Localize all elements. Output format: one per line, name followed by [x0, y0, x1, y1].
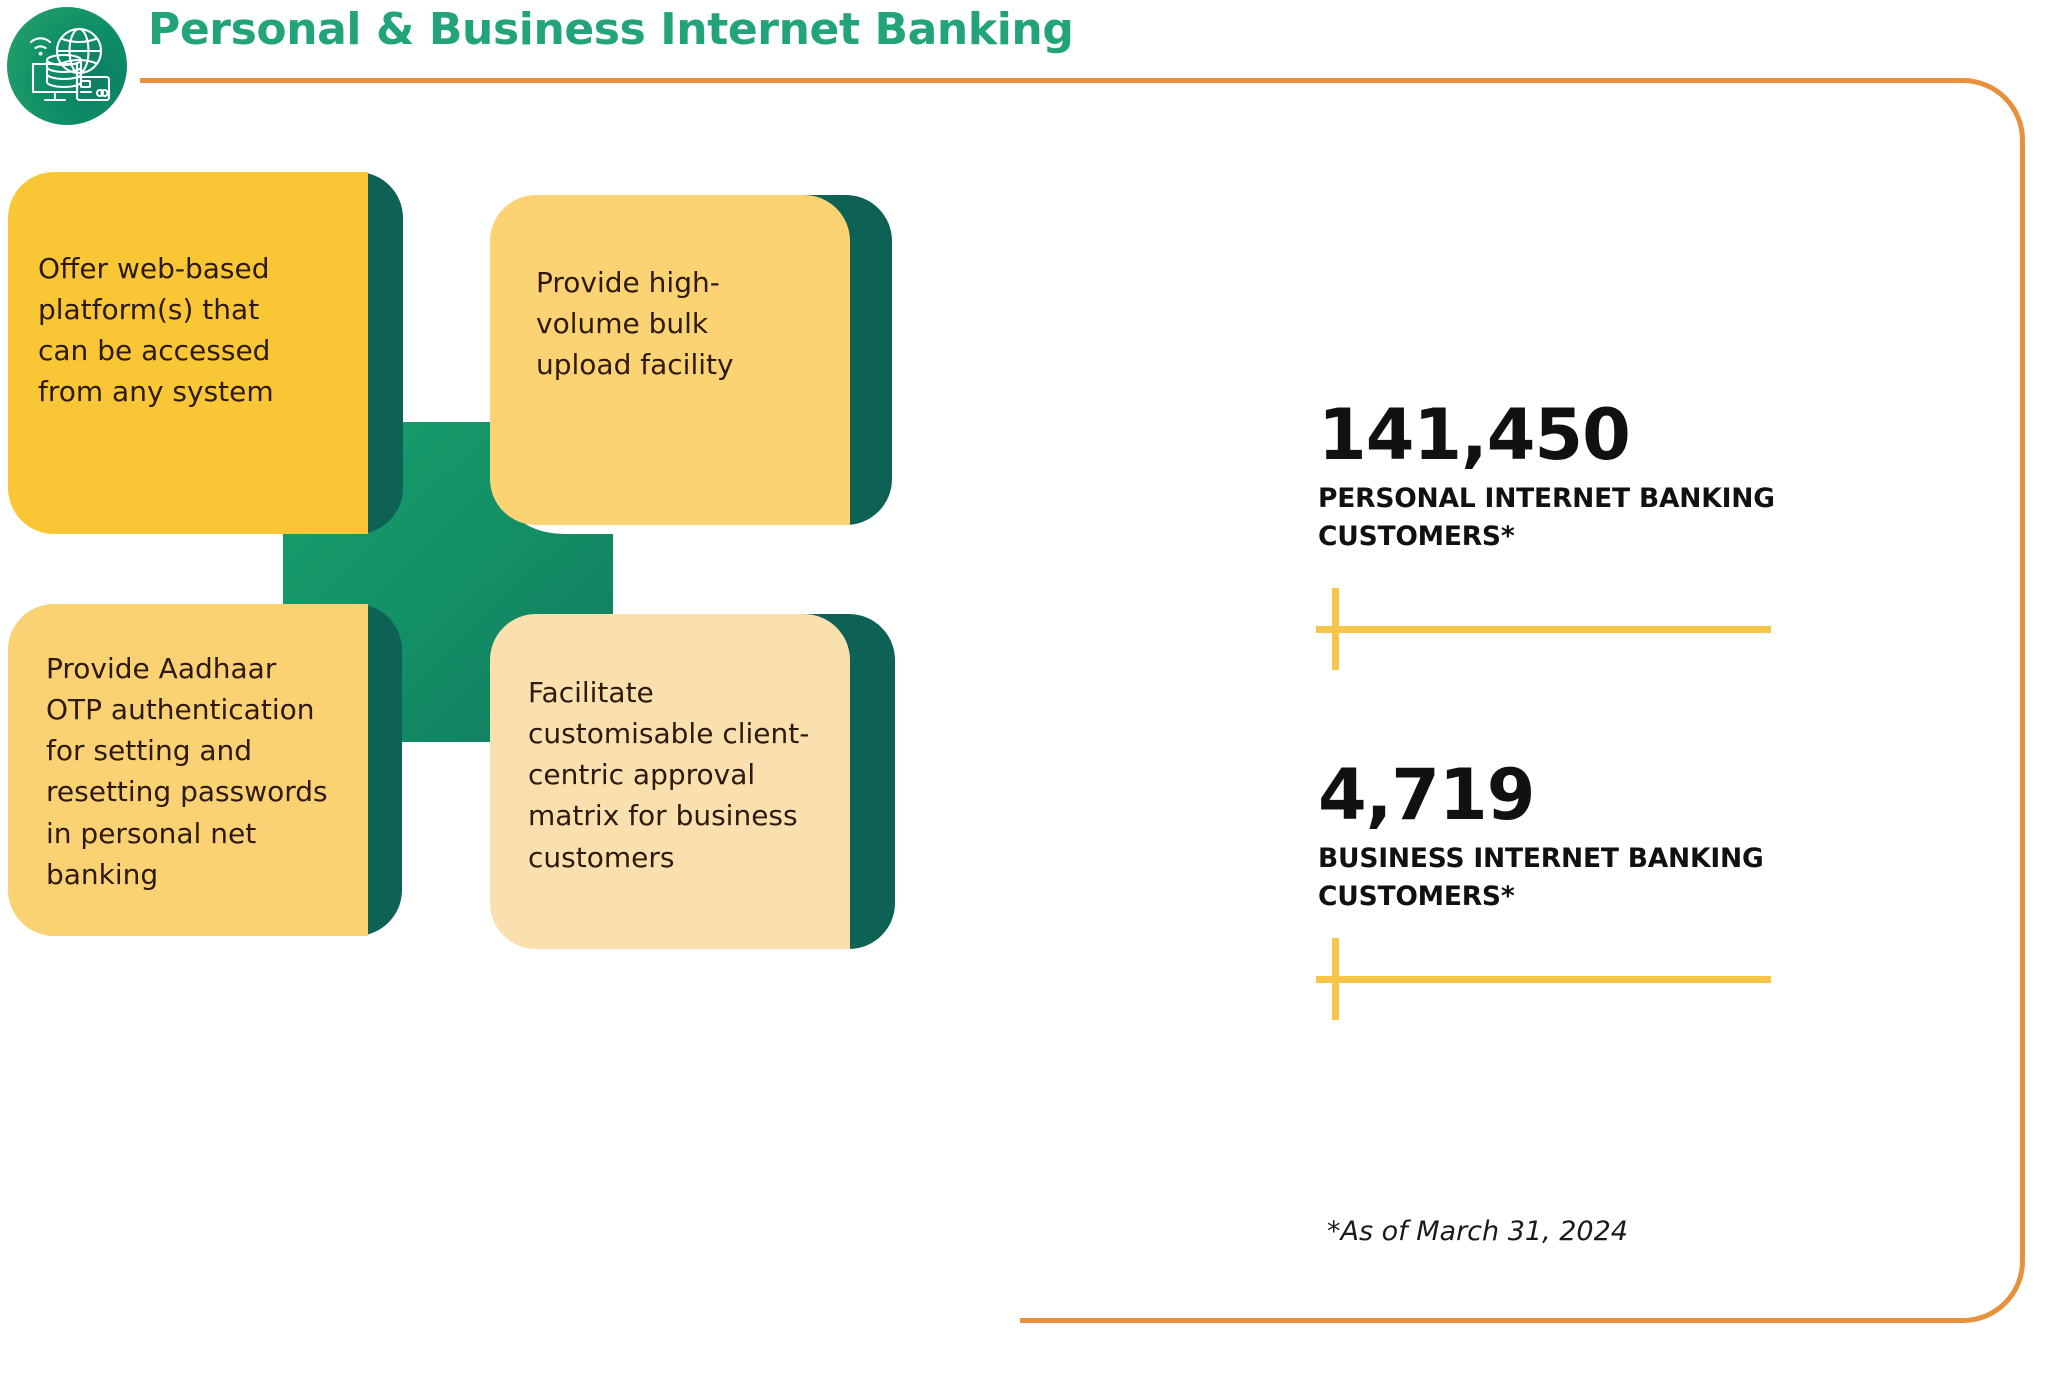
feature-card-1-text: Offer web-based platform(s) that can be … [38, 248, 338, 413]
feature-card-approval-matrix: Facilitate customisable client- centric … [490, 614, 850, 949]
stat-2-divider-horizontal [1316, 976, 1771, 983]
feature-card-web-platform: Offer web-based platform(s) that can be … [8, 172, 368, 534]
stat-1-divider-vertical [1332, 588, 1339, 670]
stat-personal-internet-banking: 141,450 PERSONAL INTERNET BANKING CUSTOM… [1318, 400, 1775, 555]
feature-card-4-text: Facilitate customisable client- centric … [528, 672, 828, 878]
page-title: Personal & Business Internet Banking [148, 4, 1073, 55]
stat-business-internet-banking: 4,719 BUSINESS INTERNET BANKING CUSTOMER… [1318, 760, 1764, 915]
stat-1-divider-horizontal [1316, 626, 1771, 633]
frame-bottom-rule [1020, 1318, 1965, 1323]
frame-corner-top-right [1959, 78, 2025, 144]
stat-1-label: PERSONAL INTERNET BANKING CUSTOMERS* [1318, 480, 1775, 555]
feature-card-bulk-upload: Provide high- volume bulk upload facilit… [490, 195, 850, 525]
stat-2-divider [1316, 938, 1776, 1020]
frame-corner-bottom-right [1959, 1257, 2025, 1323]
frame-top-rule [140, 78, 1960, 83]
feature-card-aadhaar-otp: Provide Aadhaar OTP authentication for s… [8, 604, 368, 936]
stat-1-divider [1316, 588, 1776, 670]
feature-card-2-text: Provide high- volume bulk upload facilit… [536, 262, 816, 385]
stat-2-label: BUSINESS INTERNET BANKING CUSTOMERS* [1318, 840, 1764, 915]
stat-2-divider-vertical [1332, 938, 1339, 1020]
footnote-as-of-date: *As of March 31, 2024 [1327, 1216, 1628, 1247]
stat-1-value: 141,450 [1318, 400, 1775, 470]
stat-2-value: 4,719 [1318, 760, 1764, 830]
frame-right-rule [2020, 140, 2025, 1260]
feature-card-3-text: Provide Aadhaar OTP authentication for s… [46, 648, 346, 895]
internet-banking-globe-icon [7, 7, 127, 125]
